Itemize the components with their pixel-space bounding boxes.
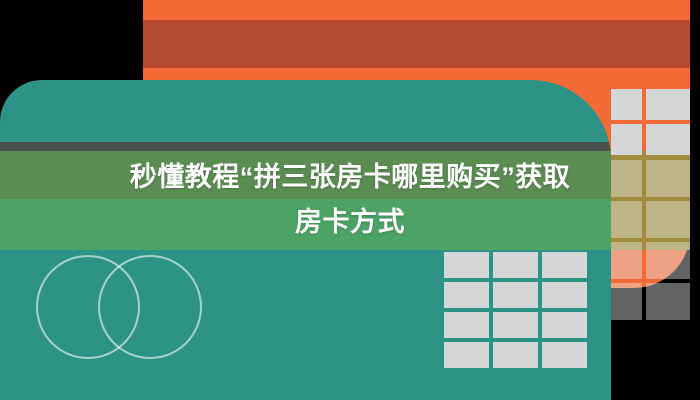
grid-cell xyxy=(444,282,489,308)
grid-cell xyxy=(646,283,690,320)
grid-cell xyxy=(542,312,587,338)
grid-cell xyxy=(493,252,538,278)
olive-grid-decoration xyxy=(611,160,690,332)
grid-cell xyxy=(493,282,538,308)
grid-cell xyxy=(493,342,538,368)
grid-cell xyxy=(646,89,690,120)
grid-cell xyxy=(611,283,642,320)
grid-cell xyxy=(493,312,538,338)
grid-cell xyxy=(646,242,690,279)
teal-card xyxy=(0,80,611,400)
red-accent-band xyxy=(143,20,690,68)
grid-cell xyxy=(444,252,489,278)
grid-cell xyxy=(444,342,489,368)
grid-cell xyxy=(542,252,587,278)
grid-cell xyxy=(542,282,587,308)
grid-cell xyxy=(646,201,690,238)
grid-cell xyxy=(646,124,690,155)
banner-canvas: 秒懂教程“拼三张房卡哪里购买”获取 房卡方式 xyxy=(0,0,700,400)
divider-band xyxy=(0,142,611,151)
grid-cell xyxy=(646,160,690,197)
circle-right-icon xyxy=(98,255,202,359)
grid-cell xyxy=(611,201,642,238)
top-grid-decoration xyxy=(611,89,690,157)
grid-cell xyxy=(611,89,642,120)
grid-cell xyxy=(611,242,642,279)
grid-cell xyxy=(444,312,489,338)
grid-cell xyxy=(611,124,642,155)
grid-cell xyxy=(611,160,642,197)
green-band-upper xyxy=(0,151,611,199)
green-band-lower xyxy=(0,199,611,250)
grid-cell xyxy=(542,342,587,368)
overlapping-circles-decoration xyxy=(36,255,246,365)
